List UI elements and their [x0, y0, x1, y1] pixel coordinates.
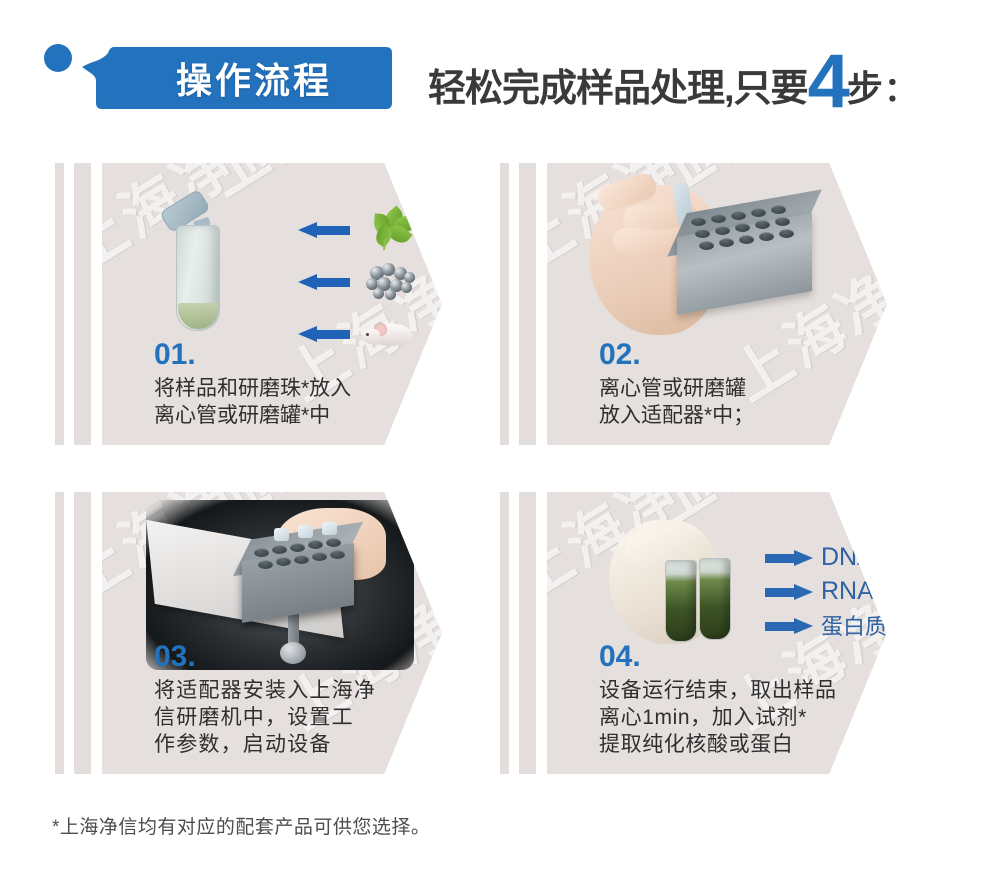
card-body: 上海净信 上海净信 上海净信 [102, 492, 442, 774]
card-accent-bar-thin [55, 163, 64, 445]
card-accent-bar-thick [519, 492, 536, 774]
arrow-right-icon [765, 618, 813, 633]
headline: 轻松完成样品处理,只要 4 步 ： [428, 46, 917, 112]
step-description: 将样品和研磨珠*放入 离心管或研磨罐*中 [154, 375, 442, 429]
steps-grid: 上海净信 上海净信 上海净信 [0, 163, 1000, 803]
step-description: 将适配器安装入上海净 信研磨机中，设置工 作参数，启动设备 [154, 677, 442, 758]
step-number: 04. [599, 642, 887, 672]
card-body: 上海净信 上海净信 上海净信 DNA [547, 492, 887, 774]
headline-step-count: 4 [808, 52, 849, 113]
step-text-03: 03. 将适配器安装入上海净 信研磨机中，设置工 作参数，启动设备 [154, 642, 442, 758]
card-accent-bar-thick [74, 492, 91, 774]
output-rows: DNA RNA 蛋白质 [765, 540, 887, 642]
step-line: 信研磨机中，设置工 [154, 704, 442, 731]
card-accent-bar-thin [500, 492, 509, 774]
grinding-beads-icon [360, 260, 422, 302]
step-line: 提取纯化核酸或蛋白 [599, 731, 887, 758]
output-row-dna: DNA [765, 540, 887, 574]
arrow-left-icon [298, 222, 350, 237]
centrifuge-tube-icon [164, 199, 228, 329]
step-description: 离心管或研磨罐 放入适配器*中； [599, 375, 887, 429]
step-text-02: 02. 离心管或研磨罐 放入适配器*中； [599, 340, 887, 429]
headline-part1: 轻松完成样品处理,只要 [428, 57, 808, 112]
output-row-rna: RNA [765, 574, 887, 608]
step-line: 放入适配器*中； [599, 402, 887, 429]
hand-holding-adapter-photo [579, 173, 829, 358]
header-dot-icon [44, 44, 72, 72]
step-text-01: 01. 将样品和研磨珠*放入 离心管或研磨罐*中 [154, 340, 442, 429]
step-number: 01. [154, 340, 442, 370]
infographic-page: 操作流程 轻松完成样品处理,只要 4 步 ： 上海净信 上海净信 上海净信 [0, 0, 1000, 875]
footnote: *上海净信均有对应的配套产品可供您选择。 [52, 812, 430, 839]
step-text-04: 04. 设备运行结束，取出样品 离心1min，加入试剂* 提取纯化核酸或蛋白 [599, 642, 887, 758]
input-row-leaf [298, 207, 438, 251]
output-label: DNA [821, 543, 874, 572]
step-line: 作参数，启动设备 [154, 731, 442, 758]
output-label: RNA [821, 577, 874, 606]
input-row-beads [298, 259, 438, 303]
leaf-icon [360, 208, 422, 250]
section-title-banner: 操作流程 [82, 47, 392, 109]
output-label: 蛋白质 [821, 609, 887, 641]
step-line: 将样品和研磨珠*放入 [154, 375, 442, 402]
step-line: 离心1min，加入试剂* [599, 704, 887, 731]
card-accent-bar-thick [74, 163, 91, 445]
card-accent-bar-thick [519, 163, 536, 445]
step-card-02: 上海净信 上海净信 上海净信 [500, 163, 887, 445]
step-card-03: 上海净信 上海净信 上海净信 [55, 492, 442, 774]
arrow-left-icon [298, 274, 350, 289]
arrow-left-icon [298, 326, 350, 341]
card-accent-bar-thin [55, 492, 64, 774]
card-body: 上海净信 上海净信 上海净信 [547, 163, 887, 445]
step-line: 离心管或研磨罐 [599, 375, 887, 402]
card-accent-bar-thin [500, 163, 509, 445]
sample-vial-icon [665, 560, 697, 642]
step-line: 设备运行结束，取出样品 [599, 677, 887, 704]
arrow-right-icon [765, 584, 813, 599]
step-number: 02. [599, 340, 887, 370]
step-card-01: 上海净信 上海净信 上海净信 [55, 163, 442, 445]
output-row-protein: 蛋白质 [765, 608, 887, 642]
step-card-04: 上海净信 上海净信 上海净信 DNA [500, 492, 887, 774]
page-header: 操作流程 轻松完成样品处理,只要 4 步 ： [0, 0, 1000, 135]
step-description: 设备运行结束，取出样品 离心1min，加入试剂* 提取纯化核酸或蛋白 [599, 677, 887, 758]
headline-colon: ： [884, 62, 917, 111]
arrow-right-icon [765, 550, 813, 565]
headline-part2: 步 [847, 60, 882, 112]
card-body: 上海净信 上海净信 上海净信 [102, 163, 442, 445]
step-number: 03. [154, 642, 442, 672]
gloved-hand-vials-photo [609, 520, 789, 660]
section-title-text: 操作流程 [82, 47, 392, 109]
step-line: 将适配器安装入上海净 [154, 677, 442, 704]
sample-vial-icon [699, 558, 731, 640]
step-line: 离心管或研磨罐*中 [154, 402, 442, 429]
